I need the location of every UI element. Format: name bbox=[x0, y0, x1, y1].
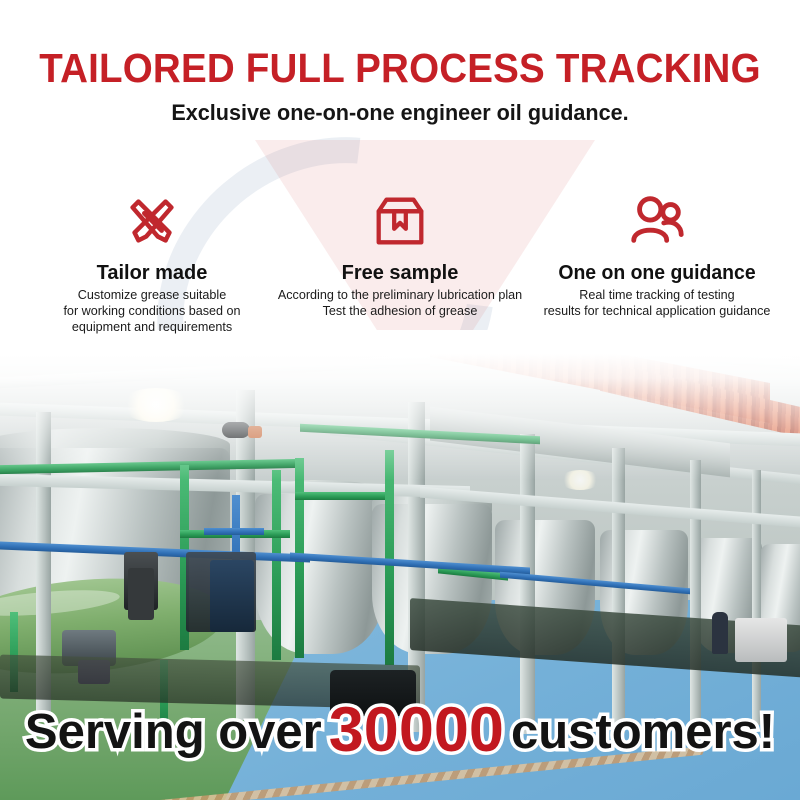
feature-description: Real time tracking of testing results fo… bbox=[532, 284, 782, 319]
feature-desc-line: Test the adhesion of grease bbox=[275, 303, 525, 319]
feature-description: According to the preliminary lubrication… bbox=[275, 284, 525, 319]
banner-line: Serving over 30000 customers! bbox=[25, 696, 775, 759]
feature-list: Tailor made Customize grease suitable fo… bbox=[0, 185, 800, 345]
header-block: TAILORED FULL PROCESS TRACKING Exclusive… bbox=[0, 0, 800, 125]
green-pipe bbox=[295, 492, 390, 500]
piping-skid bbox=[210, 560, 254, 632]
package-box-icon bbox=[275, 185, 525, 257]
two-people-icon bbox=[532, 185, 782, 257]
feature-title: One on one guidance bbox=[536, 257, 779, 284]
feature-desc-line: Real time tracking of testing bbox=[532, 287, 782, 303]
photo-top-fade bbox=[0, 330, 800, 480]
page-subtitle: Exclusive one-on-one engineer oil guidan… bbox=[16, 89, 784, 125]
support-column bbox=[752, 470, 761, 725]
feature-title: Free sample bbox=[275, 257, 525, 284]
poster-root: TAILORED FULL PROCESS TRACKING Exclusive… bbox=[0, 0, 800, 800]
valve-cluster bbox=[128, 568, 154, 620]
banner-prefix: Serving over bbox=[25, 708, 322, 757]
banner-suffix: customers! bbox=[511, 708, 775, 757]
feature-title: Tailor made bbox=[27, 257, 277, 284]
blue-pipe bbox=[204, 528, 264, 535]
customer-count-banner: Serving over 30000 customers! bbox=[0, 690, 800, 765]
green-pipe bbox=[272, 470, 281, 660]
feature-desc-line: According to the preliminary lubrication… bbox=[275, 287, 525, 303]
green-pipe bbox=[385, 450, 394, 665]
page-title: TAILORED FULL PROCESS TRACKING bbox=[24, 0, 776, 89]
feature-desc-line: Customize grease suitable bbox=[27, 287, 277, 303]
ruler-pencil-icon bbox=[27, 185, 277, 257]
feature-item-tailor-made: Tailor made Customize grease suitable fo… bbox=[27, 185, 277, 335]
feature-item-one-on-one: One on one guidance Real time tracking o… bbox=[532, 185, 782, 319]
feature-desc-line: for working conditions based on bbox=[27, 303, 277, 319]
pallet-stack bbox=[735, 618, 787, 662]
feature-desc-line: equipment and requirements bbox=[27, 319, 277, 335]
feature-desc-line: results for technical application guidan… bbox=[532, 303, 782, 319]
worker-silhouette bbox=[712, 612, 728, 654]
feature-item-free-sample: Free sample According to the preliminary… bbox=[275, 185, 525, 319]
feature-description: Customize grease suitable for working co… bbox=[27, 284, 277, 335]
banner-count-number: 30000 bbox=[322, 699, 511, 762]
